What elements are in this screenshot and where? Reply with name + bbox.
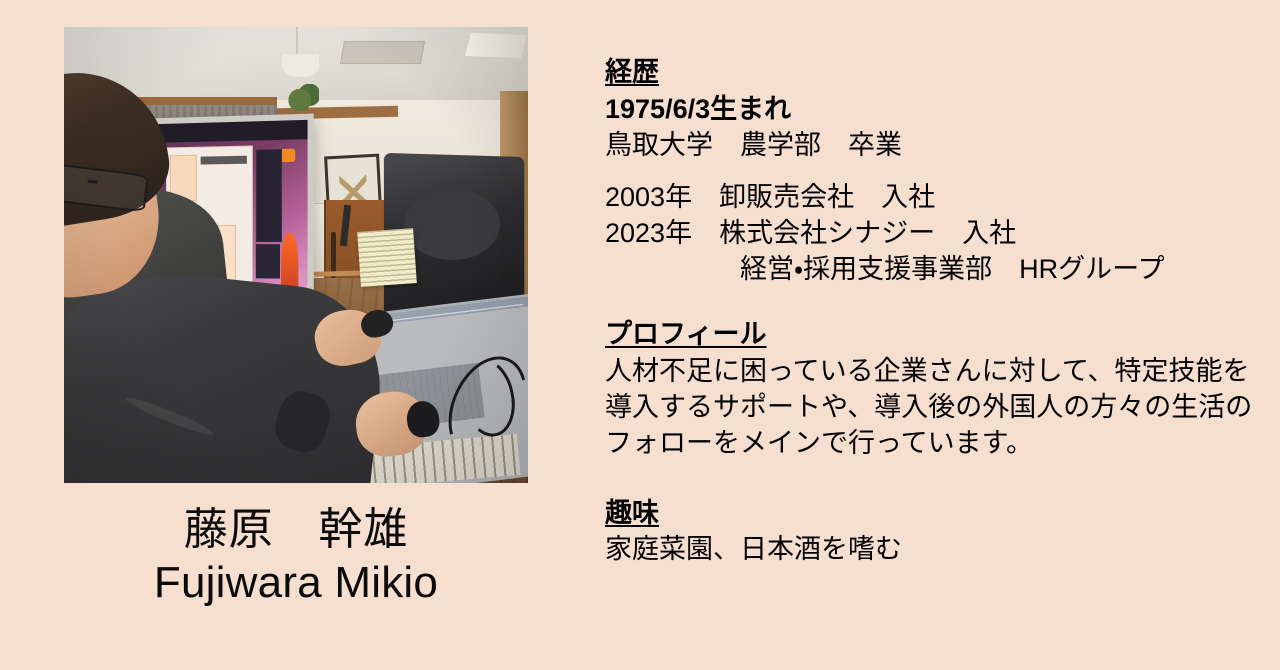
photo-scene: [64, 27, 528, 483]
sticky-note: [357, 228, 416, 286]
career-line: 1975/6/3生まれ: [605, 91, 1255, 127]
profile-line: フォローをメインで行っています。: [605, 425, 1255, 461]
profile-slide: 藤原 幹雄 Fujiwara Mikio 経歴 1975/6/3生まれ 鳥取大学…: [0, 0, 1280, 670]
career-line: 2023年 株式会社シナジー 入社: [605, 215, 1255, 251]
portrait-photo: [64, 27, 528, 483]
section-heading-profile: プロフィール: [605, 317, 766, 353]
hobby-line: 家庭菜園、日本酒を嗜む: [605, 531, 1255, 567]
name-block: 藤原 幹雄 Fujiwara Mikio: [64, 505, 528, 608]
career-line: 経営・採用支援事業部 HRグループ: [605, 251, 1255, 287]
section-profile: プロフィール 人材不足に困っている企業さんに対して、特定技能を 導入するサポート…: [605, 317, 1255, 461]
name-japanese: 藤原 幹雄: [64, 505, 528, 554]
name-romaji: Fujiwara Mikio: [64, 558, 528, 607]
profile-content: 経歴 1975/6/3生まれ 鳥取大学 農学部 卒業 2003年 卸販売会社 入…: [605, 55, 1255, 567]
profile-line: 導入するサポートや、導入後の外国人の方々の生活の: [605, 389, 1255, 425]
section-heading-hobby: 趣味: [605, 496, 659, 532]
ceiling-panel: [340, 41, 425, 64]
profile-line: 人材不足に困っている企業さんに対して、特定技能を: [605, 353, 1255, 389]
spacer: [605, 163, 1255, 179]
plant-icon: [287, 84, 319, 111]
screen-side-panel: [255, 149, 281, 242]
monitor-rear-hump: [405, 188, 501, 261]
career-line: 2003年 卸販売会社 入社: [605, 179, 1255, 215]
screen-side-panel-2: [255, 244, 279, 279]
pendant-lamp: [282, 54, 319, 77]
screen-topbar: [158, 120, 307, 143]
career-line: 鳥取大学 農学部 卒業: [605, 127, 1255, 163]
sleeve-fold: [124, 393, 215, 439]
spacer: [605, 287, 1255, 317]
ceiling-light: [465, 33, 526, 58]
section-heading-career: 経歴: [605, 55, 659, 91]
section-career: 経歴 1975/6/3生まれ 鳥取大学 農学部 卒業 2003年 卸販売会社 入…: [605, 55, 1255, 287]
spacer: [605, 462, 1255, 496]
section-hobby: 趣味 家庭菜園、日本酒を嗜む: [605, 496, 1255, 568]
